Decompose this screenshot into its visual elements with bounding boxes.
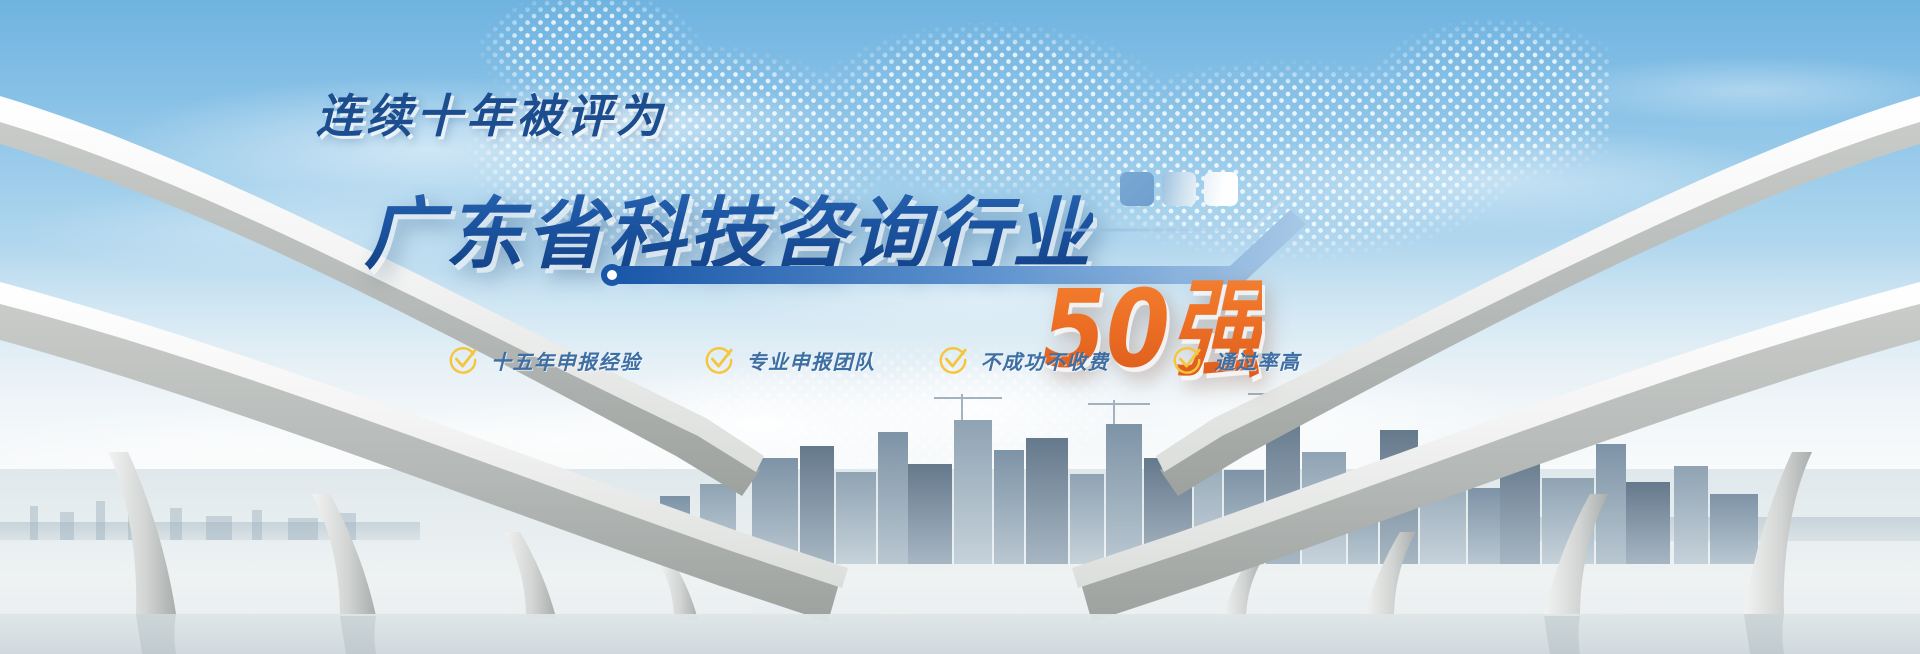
check-circle-icon	[448, 345, 478, 375]
check-circle-icon	[704, 345, 734, 375]
feature-label: 通过率高	[1215, 346, 1301, 375]
feature-list: 十五年申报经验 专业申报团队 不成功不收费	[448, 345, 1301, 375]
decor-square-1	[1120, 172, 1154, 206]
banner-subtitle: 连续十年被评为	[316, 80, 666, 146]
feature-label: 十五年申报经验	[491, 346, 642, 375]
feature-item-3: 不成功不收费	[938, 345, 1110, 375]
decor-squares	[1120, 172, 1238, 206]
feature-label: 不成功不收费	[981, 346, 1110, 375]
banner-main-title: 广东省科技咨询行业	[364, 172, 1093, 284]
check-circle-icon	[1172, 345, 1202, 375]
promo-banner: 连续十年被评为 广东省科技咨询行业	[0, 0, 1920, 654]
feature-item-2: 专业申报团队	[704, 345, 876, 375]
decor-square-3	[1204, 172, 1238, 206]
check-circle-icon	[938, 345, 968, 375]
feature-item-1: 十五年申报经验	[448, 345, 642, 375]
banner-content: 连续十年被评为 广东省科技咨询行业	[0, 0, 1920, 654]
feature-label: 专业申报团队	[747, 346, 876, 375]
decor-square-2	[1162, 172, 1196, 206]
feature-item-4: 通过率高	[1172, 345, 1301, 375]
